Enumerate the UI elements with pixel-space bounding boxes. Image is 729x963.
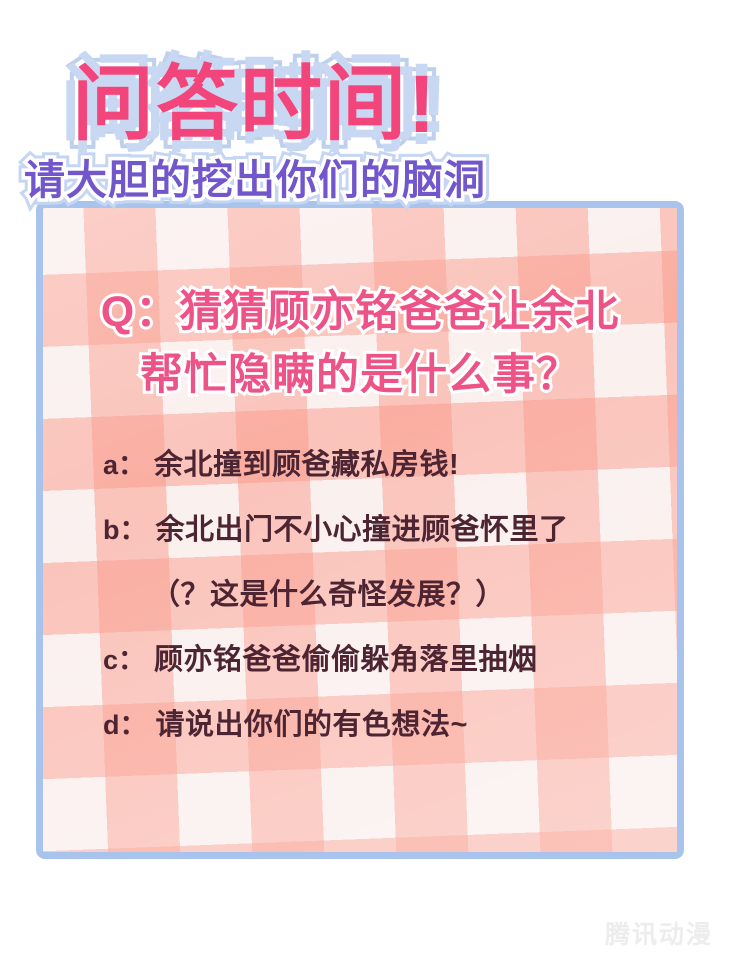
question-line-1: Q：猜猜顾亦铭爸爸让余北: [43, 281, 677, 344]
answer-text-b: 余北出门不小心撞进顾爸怀里了: [156, 510, 569, 550]
answer-option-c[interactable]: c： 顾亦铭爸爸偷偷躲角落里抽烟: [103, 640, 663, 680]
main-title-halo: 问答时间!: [72, 62, 437, 148]
answer-option-d[interactable]: d： 请说出你们的有色想法~: [103, 705, 663, 745]
comic-qa-page: 问答时间! 问答时间! 请大胆的挖出你们的脑洞 请大胆的挖出你们的脑洞 Q：猜猜…: [0, 0, 729, 963]
sub-title-halo: 请大胆的挖出你们的脑洞: [24, 157, 486, 203]
qa-panel: Q：猜猜顾亦铭爸爸让余北 帮忙隐瞒的是什么事？ a： 余北撞到顾爸藏私房钱! b…: [36, 201, 684, 859]
question-block: Q：猜猜顾亦铭爸爸让余北 帮忙隐瞒的是什么事？: [43, 281, 677, 407]
answer-key-b: b：: [103, 510, 147, 550]
question-line-2: 帮忙隐瞒的是什么事？: [43, 344, 677, 407]
answer-key-a: a：: [103, 445, 145, 485]
answer-key-d: d：: [103, 705, 147, 745]
answer-note-text: （？这是什么奇怪发展？）: [151, 575, 505, 615]
answer-option-b[interactable]: b： 余北出门不小心撞进顾爸怀里了: [103, 510, 663, 550]
answer-text-d: 请说出你们的有色想法~: [156, 705, 468, 745]
answer-list: a： 余北撞到顾爸藏私房钱! b： 余北出门不小心撞进顾爸怀里了 （？这是什么奇…: [103, 445, 663, 770]
answer-option-b-note: （？这是什么奇怪发展？）: [103, 575, 663, 615]
main-title: 问答时间!: [72, 62, 437, 148]
answer-key-c: c：: [103, 640, 145, 680]
watermark-tencent-comics: 腾讯动漫: [605, 915, 713, 951]
sub-title: 请大胆的挖出你们的脑洞: [24, 157, 486, 203]
panel-content: Q：猜猜顾亦铭爸爸让余北 帮忙隐瞒的是什么事？ a： 余北撞到顾爸藏私房钱! b…: [43, 208, 677, 852]
answer-text-a: 余北撞到顾爸藏私房钱!: [154, 445, 459, 485]
answer-option-a[interactable]: a： 余北撞到顾爸藏私房钱!: [103, 445, 663, 485]
title-block: 问答时间! 问答时间! 请大胆的挖出你们的脑洞 请大胆的挖出你们的脑洞: [0, 0, 729, 205]
answer-text-c: 顾亦铭爸爸偷偷躲角落里抽烟: [154, 640, 538, 680]
